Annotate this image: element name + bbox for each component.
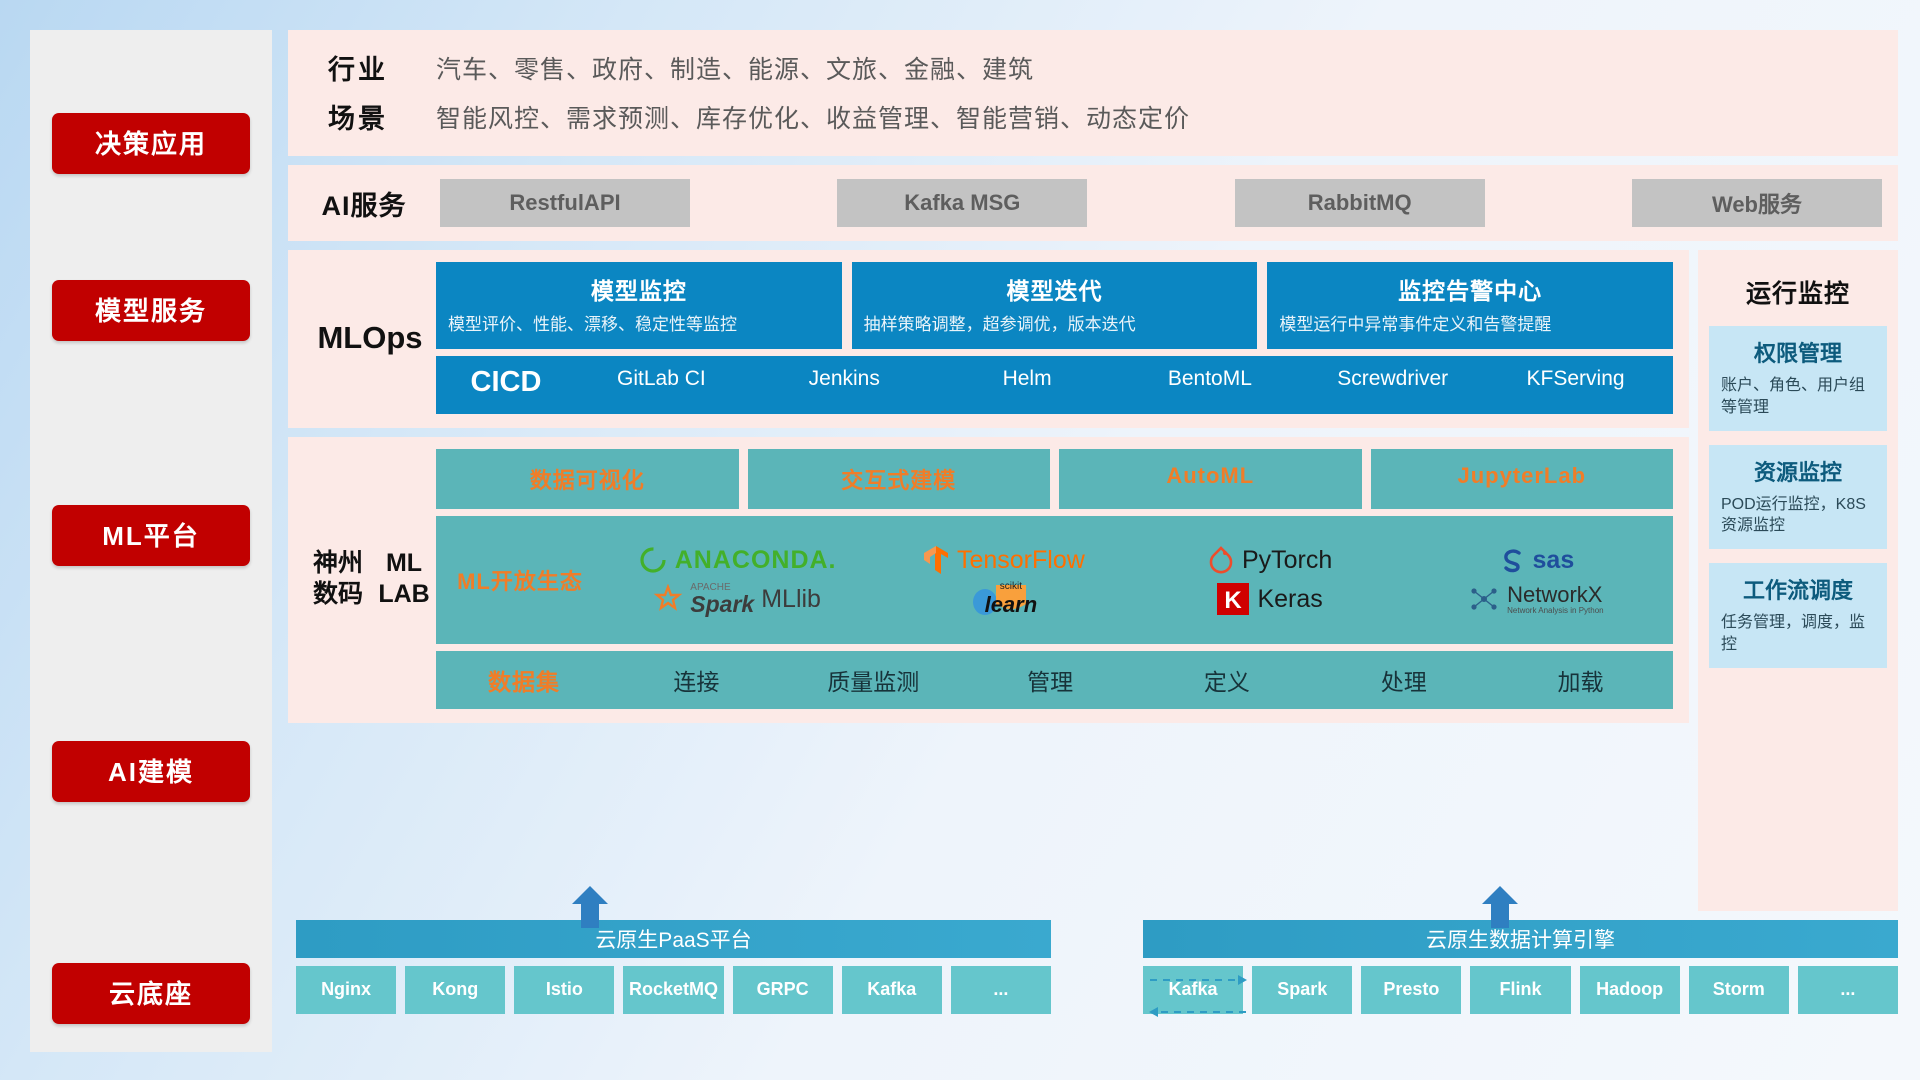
- tab-jupyterlab[interactable]: JupyterLab: [1371, 449, 1674, 509]
- runtime-monitor-title: 运行监控: [1709, 264, 1887, 326]
- mlops-card-alert-center[interactable]: 监控告警中心 模型运行中异常事件定义和告警提醒: [1267, 262, 1673, 349]
- scenario-row: 场景 智能风控、需求预测、库存优化、收益管理、智能营销、动态定价: [306, 97, 1880, 136]
- ml-ecosystem-label: ML开放生态: [436, 564, 604, 596]
- spark-icon: [653, 584, 683, 614]
- data-engine-column: 云原生数据计算引擎 Kafka Spark Presto Flink Hadoo…: [1143, 920, 1898, 1052]
- middle-left: MLOps 模型监控 模型评价、性能、漂移、稳定性等监控 模型迭代 抽样策略调整…: [288, 250, 1689, 911]
- mlops-band: MLOps 模型监控 模型评价、性能、漂移、稳定性等监控 模型迭代 抽样策略调整…: [288, 250, 1689, 428]
- mlops-body: 模型监控 模型评价、性能、漂移、稳定性等监控 模型迭代 抽样策略调整，超参调优，…: [436, 262, 1673, 414]
- keras-logo: K Keras: [1216, 582, 1322, 616]
- data-engine-chip-flink[interactable]: Flink: [1470, 966, 1570, 1014]
- rail-item-decision-app[interactable]: 决策应用: [52, 113, 250, 174]
- mlops-card-model-monitor[interactable]: 模型监控 模型评价、性能、漂移、稳定性等监控: [436, 262, 842, 349]
- middle-section: MLOps 模型监控 模型评价、性能、漂移、稳定性等监控 模型迭代 抽样策略调整…: [288, 250, 1898, 911]
- paas-bar[interactable]: 云原生PaaS平台: [296, 920, 1051, 958]
- networkx-logo: NetworkX Network Analysis in Python: [1468, 583, 1604, 616]
- pytorch-icon: [1207, 545, 1235, 575]
- anaconda-logo: ANACONDA.: [638, 545, 837, 575]
- dataset-item-quality-monitor[interactable]: 质量监测: [785, 663, 962, 697]
- dataset-label: 数据集: [440, 663, 608, 697]
- anaconda-label: ANACONDA.: [675, 546, 837, 575]
- tab-interactive-modeling[interactable]: 交互式建模: [748, 449, 1051, 509]
- data-engine-chip-storm[interactable]: Storm: [1689, 966, 1789, 1014]
- cicd-item-kfserving[interactable]: KFServing: [1484, 366, 1667, 392]
- mlops-card-title: 模型监控: [448, 272, 830, 306]
- spark-label: Spark: [690, 593, 754, 616]
- mllib-label: MLlib: [761, 585, 821, 614]
- sas-label: sas: [1533, 546, 1575, 575]
- monitor-card-title: 权限管理: [1721, 336, 1875, 368]
- dataset-item-manage[interactable]: 管理: [962, 663, 1139, 697]
- dataset-row: 数据集 连接 质量监测 管理 定义 处理 加载: [436, 651, 1673, 709]
- monitor-card-desc: POD运行监控，K8S资源监控: [1721, 494, 1875, 538]
- diagram-root: 决策应用 模型服务 ML平台 AI建模 云底座 行业 汽车、零售、政府、制造、能…: [0, 0, 1920, 1080]
- ml-lab-label-line1: 神州数码: [304, 548, 372, 609]
- monitor-card-permission[interactable]: 权限管理 账户、角色、用户组等管理: [1709, 326, 1887, 431]
- ml-ecosystem-row: ML开放生态 ANACONDA.: [436, 516, 1673, 644]
- spark-mllib-logo: APACHE Spark MLlib: [653, 583, 821, 616]
- cicd-item-helm[interactable]: Helm: [936, 366, 1119, 392]
- dataset-item-load[interactable]: 加载: [1492, 663, 1669, 697]
- mlops-card-model-iteration[interactable]: 模型迭代 抽样策略调整，超参调优，版本迭代: [852, 262, 1258, 349]
- mlops-card-desc: 模型评价、性能、漂移、稳定性等监控: [448, 314, 830, 337]
- ml-lab-label-line2: ML LAB: [372, 548, 436, 609]
- cicd-item-jenkins[interactable]: Jenkins: [753, 366, 936, 392]
- ml-lab-tab-list: 数据可视化 交互式建模 AutoML JupyterLab: [436, 449, 1673, 509]
- cicd-row: CICD GitLab CI Jenkins Helm BentoML Scre…: [436, 356, 1673, 414]
- ai-service-chip-rabbitmq[interactable]: RabbitMQ: [1235, 179, 1485, 227]
- paas-chip-rocketmq[interactable]: RocketMQ: [623, 966, 723, 1014]
- layer-rail: 决策应用 模型服务 ML平台 AI建模 云底座: [30, 30, 272, 1052]
- industry-row: 行业 汽车、零售、政府、制造、能源、文旅、金融、建筑: [306, 48, 1880, 87]
- rail-item-model-service[interactable]: 模型服务: [52, 280, 250, 341]
- industry-label: 行业: [306, 48, 410, 87]
- cicd-item-bentoml[interactable]: BentoML: [1118, 366, 1301, 392]
- mlops-card-list: 模型监控 模型评价、性能、漂移、稳定性等监控 模型迭代 抽样策略调整，超参调优，…: [436, 262, 1673, 349]
- scenario-value: 智能风控、需求预测、库存优化、收益管理、智能营销、动态定价: [436, 99, 1190, 135]
- data-engine-chip-hadoop[interactable]: Hadoop: [1580, 966, 1680, 1014]
- monitor-card-resource[interactable]: 资源监控 POD运行监控，K8S资源监控: [1709, 445, 1887, 550]
- dataset-item-define[interactable]: 定义: [1138, 663, 1315, 697]
- paas-chip-more[interactable]: ...: [951, 966, 1051, 1014]
- ml-ecosystem-logo-grid: ANACONDA.: [604, 542, 1669, 618]
- rail-item-ml-platform[interactable]: ML平台: [52, 505, 250, 566]
- monitor-card-title: 资源监控: [1721, 455, 1875, 487]
- mlops-card-title: 模型迭代: [864, 272, 1246, 306]
- runtime-monitor-panel: 运行监控 权限管理 账户、角色、用户组等管理 资源监控 POD运行监控，K8S资…: [1698, 250, 1898, 911]
- paas-chip-kafka[interactable]: Kafka: [842, 966, 942, 1014]
- cicd-item-list: GitLab CI Jenkins Helm BentoML Screwdriv…: [570, 366, 1667, 392]
- paas-chip-istio[interactable]: Istio: [514, 966, 614, 1014]
- keras-label: Keras: [1257, 585, 1322, 614]
- ai-service-chip-web[interactable]: Web服务: [1632, 179, 1882, 227]
- tensorflow-label: TensorFlow: [957, 546, 1085, 575]
- scikit-top-label: scikit: [1000, 581, 1022, 592]
- networkx-icon: [1468, 583, 1500, 615]
- paas-chip-grpc[interactable]: GRPC: [733, 966, 833, 1014]
- monitor-card-desc: 任务管理，调度，监控: [1721, 612, 1875, 656]
- keras-icon: K: [1216, 582, 1250, 616]
- dataset-item-connect[interactable]: 连接: [608, 663, 785, 697]
- monitor-card-workflow[interactable]: 工作流调度 任务管理，调度，监控: [1709, 563, 1887, 668]
- rail-item-cloud-base[interactable]: 云底座: [52, 963, 250, 1024]
- cicd-item-screwdriver[interactable]: Screwdriver: [1301, 366, 1484, 392]
- cicd-item-gitlab-ci[interactable]: GitLab CI: [570, 366, 753, 392]
- tab-data-visualization[interactable]: 数据可视化: [436, 449, 739, 509]
- mlops-card-title: 监控告警中心: [1279, 272, 1661, 306]
- ai-service-label: AI服务: [304, 184, 424, 223]
- main-column: 行业 汽车、零售、政府、制造、能源、文旅、金融、建筑 场景 智能风控、需求预测、…: [288, 30, 1898, 1052]
- tensorflow-icon: [922, 544, 950, 576]
- rail-item-ai-modeling[interactable]: AI建模: [52, 741, 250, 802]
- ai-service-chip-restfulapi[interactable]: RestfulAPI: [440, 179, 690, 227]
- networkx-sublabel: Network Analysis in Python: [1507, 607, 1604, 616]
- scikit-learn-label: learn: [985, 592, 1038, 618]
- industry-value: 汽车、零售、政府、制造、能源、文旅、金融、建筑: [436, 50, 1034, 86]
- mlops-card-desc: 抽样策略调整，超参调优，版本迭代: [864, 314, 1246, 337]
- pytorch-label: PyTorch: [1242, 546, 1332, 575]
- svg-text:K: K: [1225, 587, 1243, 614]
- ml-lab-label: 神州数码 ML LAB: [304, 449, 436, 709]
- scenario-label: 场景: [306, 97, 410, 136]
- ai-service-chip-list: RestfulAPI Kafka MSG RabbitMQ Web服务: [424, 179, 1882, 227]
- paas-chip-nginx[interactable]: Nginx: [296, 966, 396, 1014]
- data-engine-chip-spark[interactable]: Spark: [1252, 966, 1352, 1014]
- dataset-item-list: 连接 质量监测 管理 定义 处理 加载: [608, 663, 1669, 697]
- mlops-card-desc: 模型运行中异常事件定义和告警提醒: [1279, 314, 1661, 337]
- mlops-label: MLOps: [304, 262, 436, 414]
- paas-chip-kong[interactable]: Kong: [405, 966, 505, 1014]
- dashed-connector-icon: [1148, 968, 1248, 1028]
- ml-lab-body: 数据可视化 交互式建模 AutoML JupyterLab ML开放生态: [436, 449, 1673, 709]
- arrow-up-left-icon: [570, 886, 610, 928]
- decision-app-band: 行业 汽车、零售、政府、制造、能源、文旅、金融、建筑 场景 智能风控、需求预测、…: [288, 30, 1898, 156]
- paas-chip-list: Nginx Kong Istio RocketMQ GRPC Kafka ...: [296, 966, 1051, 1014]
- ai-service-chip-kafka-msg[interactable]: Kafka MSG: [837, 179, 1087, 227]
- tab-automl[interactable]: AutoML: [1059, 449, 1362, 509]
- data-engine-chip-more[interactable]: ...: [1798, 966, 1898, 1014]
- sas-logo: sas: [1498, 546, 1575, 575]
- anaconda-icon: [638, 545, 668, 575]
- arrow-up-right-icon: [1480, 886, 1520, 928]
- data-engine-bar[interactable]: 云原生数据计算引擎: [1143, 920, 1898, 958]
- ml-lab-band: 神州数码 ML LAB 数据可视化 交互式建模 AutoML JupyterLa…: [288, 437, 1689, 723]
- sas-icon: [1498, 546, 1526, 574]
- tensorflow-logo: TensorFlow: [922, 544, 1085, 576]
- data-engine-chip-presto[interactable]: Presto: [1361, 966, 1461, 1014]
- ai-service-band: AI服务 RestfulAPI Kafka MSG RabbitMQ Web服务: [288, 165, 1898, 241]
- dataset-item-process[interactable]: 处理: [1315, 663, 1492, 697]
- data-engine-chip-list: Kafka Spark Presto Flink Hadoop Storm ..…: [1143, 966, 1898, 1014]
- pytorch-logo: PyTorch: [1207, 545, 1332, 575]
- scikit-learn-logo: scikit learn: [970, 581, 1038, 618]
- networkx-label: NetworkX: [1507, 583, 1602, 607]
- monitor-card-desc: 账户、角色、用户组等管理: [1721, 375, 1875, 419]
- cicd-label: CICD: [442, 366, 570, 399]
- monitor-card-title: 工作流调度: [1721, 573, 1875, 605]
- cloud-base-section: 云原生PaaS平台 Nginx Kong Istio RocketMQ GRPC…: [288, 920, 1898, 1052]
- paas-column: 云原生PaaS平台 Nginx Kong Istio RocketMQ GRPC…: [296, 920, 1051, 1052]
